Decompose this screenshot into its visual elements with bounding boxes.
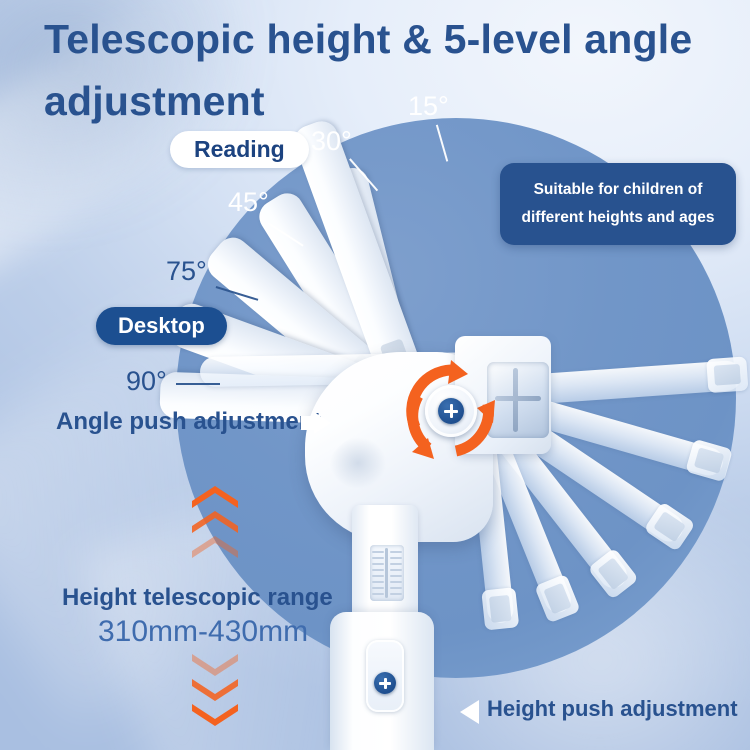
- chevron-up-icon: [192, 511, 238, 533]
- angle-label-30: 30°: [311, 126, 352, 157]
- chevron-down-icon: [192, 654, 238, 676]
- angle-label-90: 90°: [126, 366, 167, 397]
- info-box-line-1: Suitable for children of: [514, 176, 722, 204]
- page-title: Telescopic height & 5-level angle adjust…: [44, 8, 734, 133]
- plus-icon: [374, 672, 396, 694]
- info-box-line-2: different heights and ages: [514, 204, 722, 232]
- chevron-down-icon: [192, 679, 238, 701]
- plus-icon: [438, 398, 464, 424]
- info-box-suitability: Suitable for children of different heigh…: [500, 163, 736, 245]
- angle-label-45: 45°: [228, 187, 269, 218]
- badge-reading: Reading: [170, 131, 309, 168]
- chevron-up-icon: [192, 536, 238, 558]
- chevron-down-group: [192, 654, 238, 729]
- badge-desktop: Desktop: [96, 307, 227, 345]
- chevron-down-icon: [192, 704, 238, 726]
- callout-angle-push: Angle push adjustment: [56, 408, 321, 436]
- callout-height-push: Height push adjustment: [487, 696, 738, 722]
- product-infographic: Telescopic height & 5-level angle adjust…: [0, 0, 750, 750]
- callout-range-label: Height telescopic range: [62, 584, 333, 612]
- chevron-up-group: [192, 486, 238, 561]
- arrow-left-icon: [460, 700, 479, 724]
- height-scale-ruler: [370, 545, 404, 601]
- arrow-right-icon: [314, 412, 331, 434]
- chevron-up-icon: [192, 486, 238, 508]
- angle-label-75: 75°: [166, 256, 207, 287]
- callout-range-value: 310mm-430mm: [98, 615, 308, 649]
- leader-line-90: [176, 383, 220, 385]
- arrow-right-icon-stub: [301, 416, 315, 430]
- angle-label-15: 15°: [408, 91, 449, 122]
